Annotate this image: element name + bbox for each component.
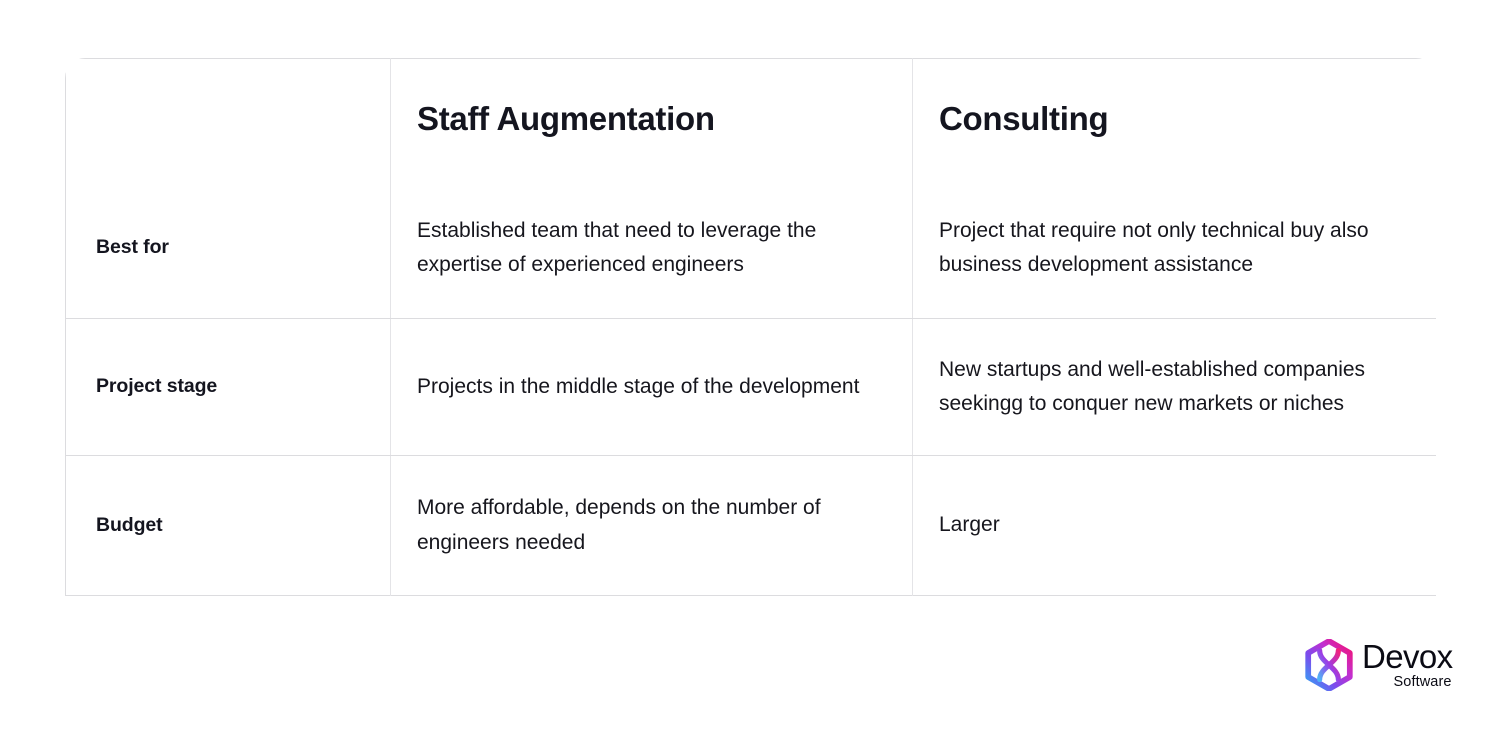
row-label-project-stage: Project stage xyxy=(66,319,391,456)
row-label-budget: Budget xyxy=(66,456,391,596)
cell-project-stage-staff: Projects in the middle stage of the deve… xyxy=(391,319,913,456)
cell-budget-consulting: Larger xyxy=(913,456,1437,596)
devox-software-logo: Devox Software xyxy=(1303,639,1453,691)
logo-word-devox: Devox xyxy=(1362,640,1453,673)
devox-hexagon-mark xyxy=(1303,639,1355,691)
logo-subtitle-software: Software xyxy=(1394,675,1453,690)
table-header: Staff Augmentation Consulting xyxy=(66,59,1437,179)
table-header-staff-augmentation: Staff Augmentation xyxy=(391,59,913,179)
cell-budget-staff: More affordable, depends on the number o… xyxy=(391,456,913,596)
comparison-table-container: Staff Augmentation Consulting Best for E… xyxy=(65,58,1436,596)
cell-best-for-staff: Established team that need to leverage t… xyxy=(391,179,913,319)
table-header-consulting: Consulting xyxy=(913,59,1437,179)
table-row: Budget More affordable, depends on the n… xyxy=(66,456,1437,596)
table-row: Best for Established team that need to l… xyxy=(66,179,1437,319)
table-row: Project stage Projects in the middle sta… xyxy=(66,319,1437,456)
table-header-row: Staff Augmentation Consulting xyxy=(66,59,1437,179)
row-label-best-for: Best for xyxy=(66,179,391,319)
logo-wordmark: Devox Software xyxy=(1362,640,1453,690)
comparison-table: Staff Augmentation Consulting Best for E… xyxy=(65,58,1436,596)
table-header-corner-cell xyxy=(66,59,391,179)
table-body: Best for Established team that need to l… xyxy=(66,179,1437,596)
page-root: Staff Augmentation Consulting Best for E… xyxy=(0,0,1500,734)
cell-best-for-consulting: Project that require not only technical … xyxy=(913,179,1437,319)
cell-project-stage-consulting: New startups and well-established compan… xyxy=(913,319,1437,456)
